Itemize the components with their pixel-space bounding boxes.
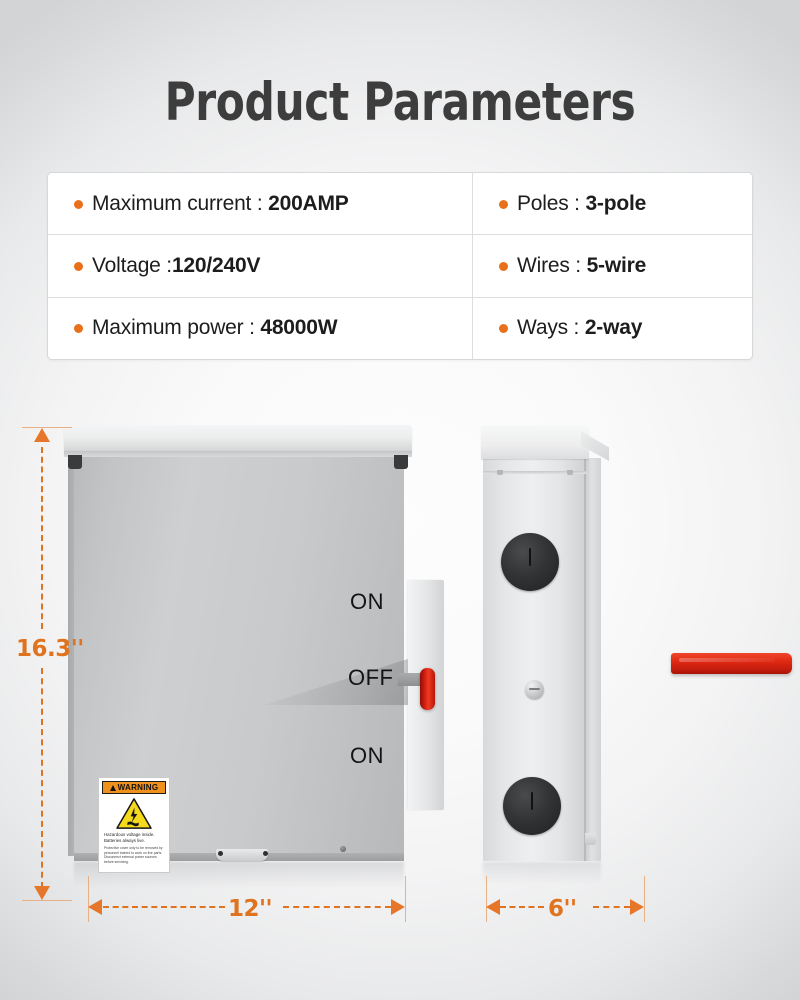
spec-label: Poles : — [517, 192, 585, 215]
electrical-hazard-icon — [115, 797, 153, 830]
extension-tick-right-width — [405, 876, 406, 922]
spec-text: Voltage :120/240V — [92, 254, 260, 278]
dimension-line-depth-b — [593, 906, 630, 908]
warning-triangle-icon — [110, 785, 116, 791]
dimension-line-depth-a — [500, 906, 544, 908]
side-door-flange — [585, 458, 601, 861]
side-bottom-bracket — [585, 833, 596, 845]
switch-label-on-bottom: ON — [350, 743, 384, 769]
side-rain-hood — [481, 425, 589, 459]
warning-sticker: WARNING Hazardous voltage inside. Batter… — [98, 777, 170, 873]
dimension-line-height-lower — [41, 668, 43, 888]
side-lip-notch — [497, 470, 503, 475]
spec-label: Maximum current : — [92, 192, 268, 215]
dimension-arrow-up — [34, 428, 50, 442]
bullet-icon — [499, 324, 508, 333]
side-reflection — [483, 862, 601, 884]
bullet-icon — [74, 324, 83, 333]
dimension-arrow-left-depth — [486, 899, 500, 915]
bullet-icon — [74, 200, 83, 209]
table-row: Maximum current : 200AMP Poles : 3-pole — [48, 173, 752, 235]
dimension-label-height: 16.3'' — [16, 636, 84, 662]
dimension-arrow-right-depth — [630, 899, 644, 915]
product-front-view: ON OFF ON WARNING — [68, 425, 408, 885]
latch-screw — [218, 851, 223, 856]
dimension-arrow-left-width — [88, 899, 102, 915]
hood-corner-tab-right — [394, 455, 408, 469]
front-screw — [340, 846, 346, 852]
spec-value: 3-pole — [585, 192, 646, 215]
warning-header-bar: WARNING — [102, 781, 166, 794]
spec-cell-wires: Wires : 5-wire — [473, 235, 752, 296]
spec-label: Maximum power : — [92, 316, 260, 339]
spec-label: Voltage : — [92, 254, 172, 277]
product-side-view — [481, 425, 641, 885]
handle-shaft — [398, 673, 422, 686]
dimension-label-depth: 6'' — [548, 896, 577, 922]
bullet-icon — [74, 262, 83, 271]
extension-tick-right-depth — [644, 876, 645, 922]
red-handle-side[interactable] — [671, 653, 792, 674]
dimension-line-height-upper — [41, 447, 43, 629]
product-images: ON OFF ON WARNING — [0, 390, 800, 950]
spec-cell-ways: Ways : 2-way — [473, 298, 752, 359]
side-flange-line — [584, 458, 586, 861]
spec-cell-maximum-power: Maximum power : 48000W — [48, 298, 473, 359]
dimension-line-width-b — [283, 906, 391, 908]
conduit-knockout-top — [501, 533, 559, 591]
dimension-label-width: 12'' — [228, 896, 272, 922]
bullet-icon — [499, 262, 508, 271]
side-lip-notch — [567, 470, 573, 475]
spec-value: 200AMP — [268, 192, 349, 215]
spec-text: Wires : 5-wire — [517, 254, 646, 278]
product-parameters-table: Maximum current : 200AMP Poles : 3-pole … — [47, 172, 753, 360]
spec-cell-maximum-current: Maximum current : 200AMP — [48, 173, 473, 234]
bullet-icon — [499, 200, 508, 209]
front-latch — [216, 849, 268, 861]
switch-label-on-top: ON — [350, 589, 384, 615]
knockout-slot — [529, 548, 531, 566]
spec-label: Ways : — [517, 316, 585, 339]
spec-value: 5-wire — [587, 254, 647, 277]
front-rain-hood — [64, 425, 412, 453]
spec-text: Maximum power : 48000W — [92, 316, 337, 340]
switch-label-off: OFF — [348, 665, 394, 691]
dimension-line-width-a — [103, 906, 225, 908]
warning-fine-text: Protective cover only to be removed by p… — [102, 846, 166, 864]
spec-cell-poles: Poles : 3-pole — [473, 173, 752, 234]
spec-cell-voltage: Voltage :120/240V — [48, 235, 473, 296]
conduit-knockout-bottom — [503, 777, 561, 835]
dimension-arrow-down — [34, 886, 50, 900]
spec-value: 120/240V — [172, 254, 260, 277]
page-title: Product Parameters — [80, 72, 720, 134]
side-lock-screw — [525, 680, 544, 699]
extension-line-bottom — [22, 900, 72, 901]
infographic-canvas: Product Parameters Maximum current : 200… — [0, 0, 800, 1000]
spec-text: Ways : 2-way — [517, 316, 642, 340]
knockout-slot — [531, 792, 533, 810]
spec-text: Poles : 3-pole — [517, 192, 646, 216]
warning-header-text: WARNING — [118, 783, 159, 792]
spec-text: Maximum current : 200AMP — [92, 192, 349, 216]
spec-value: 2-way — [585, 316, 642, 339]
front-hood-edge — [64, 451, 412, 457]
table-row: Maximum power : 48000W Ways : 2-way — [48, 298, 752, 359]
warning-main-text: Hazardous voltage inside. Batteries alwa… — [102, 832, 166, 844]
dimension-arrow-right-width — [391, 899, 405, 915]
spec-value: 48000W — [260, 316, 337, 339]
spec-label: Wires : — [517, 254, 587, 277]
hood-corner-tab-left — [68, 455, 82, 469]
table-row: Voltage :120/240V Wires : 5-wire — [48, 235, 752, 297]
red-handle-grip[interactable] — [420, 668, 435, 710]
latch-screw — [263, 851, 268, 856]
